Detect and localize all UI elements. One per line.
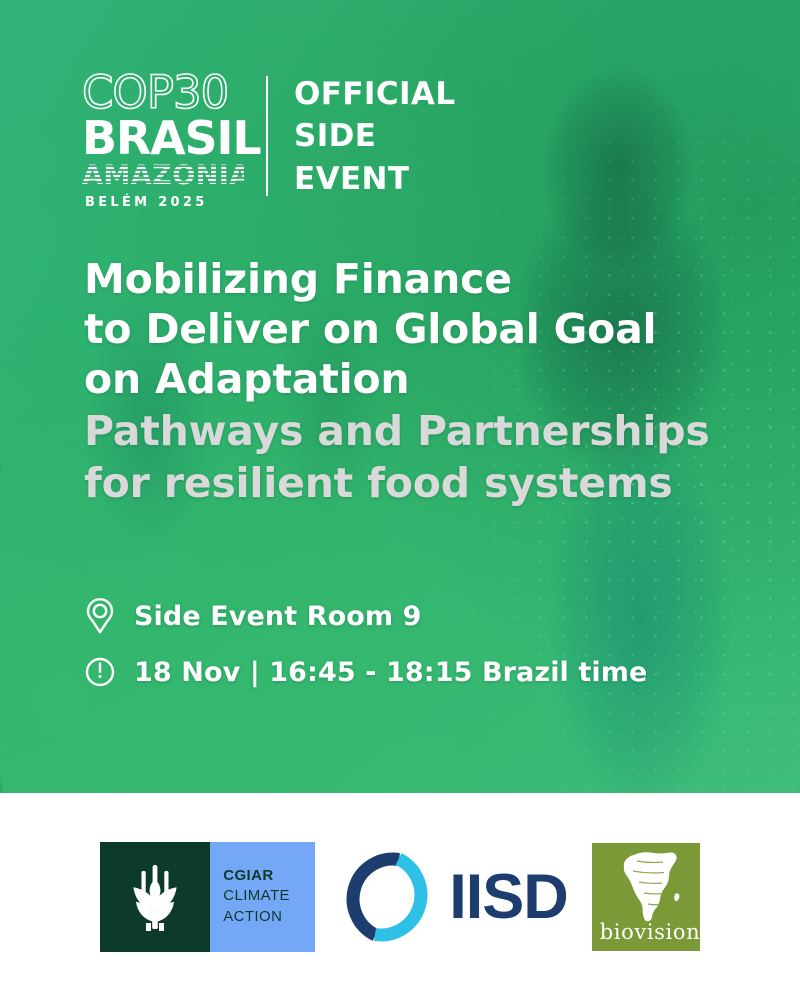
event-time-text: 18 Nov | 16:45 - 18:15 Brazil time	[134, 657, 647, 688]
cgiar-word-climate: CLIMATE	[223, 886, 315, 906]
iisd-ring-icon	[339, 849, 435, 945]
official-side-event-label: OFFICIAL SIDE EVENT	[294, 73, 455, 200]
cop30-logo-amazonia: AMAZÔNIA	[82, 162, 244, 189]
event-time-row: 18 Nov | 16:45 - 18:15 Brazil time	[84, 652, 647, 692]
official-label-line1: OFFICIAL	[294, 73, 455, 115]
cgiar-wheat-icon	[100, 842, 210, 952]
brand-lockup: COP30 BRASIL AMAZÔNIA BELÉM 2025 OFFICIA…	[82, 72, 455, 209]
official-label-line2: SIDE	[294, 115, 455, 157]
hero-banner: COP30 BRASIL AMAZÔNIA BELÉM 2025 OFFICIA…	[0, 0, 800, 793]
cgiar-logo: CGIAR CLIMATE ACTION	[100, 842, 315, 952]
event-location-text: Side Event Room 9	[134, 601, 422, 632]
cop30-logo-cop30: COP30	[82, 72, 244, 114]
event-poster: COP30 BRASIL AMAZÔNIA BELÉM 2025 OFFICIA…	[0, 0, 800, 1000]
event-title-line1: Mobilizing Finance	[84, 254, 724, 304]
event-subtitle-line1: Pathways and Partnerships	[84, 406, 724, 456]
event-details: Side Event Room 9 18 Nov | 16:45 - 18:15…	[84, 596, 647, 708]
map-pin-icon	[84, 596, 122, 636]
africa-map-icon	[620, 849, 692, 925]
event-title-block: Mobilizing Finance to Deliver on Global …	[84, 254, 724, 508]
official-label-line3: EVENT	[294, 158, 455, 200]
brand-divider	[266, 76, 268, 196]
clock-icon	[84, 652, 122, 692]
event-subtitle-line2: for resilient food systems	[84, 458, 724, 508]
event-title-line2: to Deliver on Global Goal	[84, 304, 724, 354]
cop30-logo: COP30 BRASIL AMAZÔNIA BELÉM 2025	[82, 72, 244, 209]
event-title-line3: on Adaptation	[84, 354, 724, 404]
iisd-logo: IISD	[339, 849, 568, 945]
partner-logo-bar: CGIAR CLIMATE ACTION IISD	[0, 793, 800, 1000]
cgiar-word-action: ACTION	[223, 907, 315, 927]
cgiar-wordmark: CGIAR CLIMATE ACTION	[210, 842, 315, 952]
biovision-logo: biovision	[592, 843, 700, 951]
hero-content: COP30 BRASIL AMAZÔNIA BELÉM 2025 OFFICIA…	[0, 0, 800, 793]
biovision-wordmark: biovision	[600, 920, 700, 944]
cop30-logo-brasil: BRASIL	[82, 117, 244, 159]
cgiar-word-cgiar: CGIAR	[223, 866, 315, 886]
iisd-wordmark: IISD	[449, 861, 568, 933]
event-location-row: Side Event Room 9	[84, 596, 647, 636]
partner-logos: CGIAR CLIMATE ACTION IISD	[100, 842, 700, 952]
cop30-logo-belem-2025: BELÉM 2025	[85, 196, 244, 209]
